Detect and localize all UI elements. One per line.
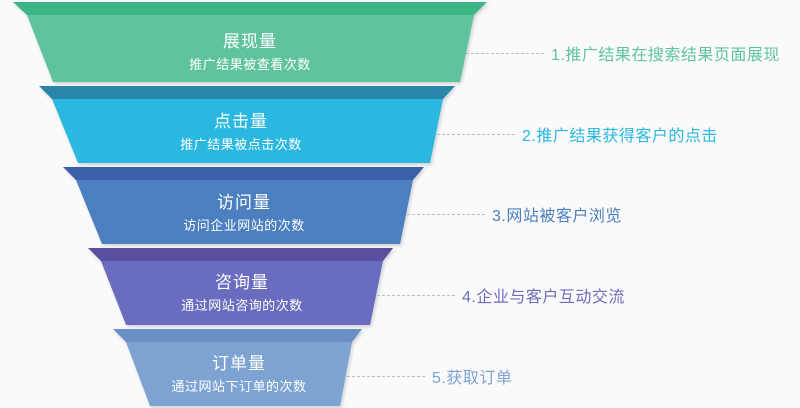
funnel-stage-1-top — [13, 2, 487, 15]
callout-connector-3-icon — [407, 214, 485, 215]
funnel-callout-3-label: 3.网站被客户浏览 — [492, 202, 622, 226]
funnel-callout-3[interactable]: 3.网站被客户浏览 — [407, 202, 622, 226]
callout-connector-5-icon — [347, 376, 425, 377]
funnel-stage-1-body — [27, 15, 474, 82]
funnel-stage-5-top — [113, 329, 362, 342]
funnel-stage-2-body — [52, 99, 443, 163]
funnel-stage-3-body — [76, 180, 413, 244]
callout-connector-2-icon — [437, 134, 515, 135]
funnel-callout-4[interactable]: 4.企业与客户互动交流 — [377, 283, 625, 307]
funnel-stage-5[interactable] — [113, 329, 362, 406]
funnel-stage-1[interactable] — [13, 2, 487, 82]
funnel-stage-5-body — [126, 342, 352, 406]
funnel-callout-5[interactable]: 5.获取订单 — [347, 364, 512, 388]
funnel-callout-2-label: 2.推广结果获得客户的点击 — [522, 122, 718, 146]
funnel-stage-4[interactable] — [88, 248, 393, 325]
funnel-callout-5-label: 5.获取订单 — [432, 364, 512, 388]
callout-connector-1-icon — [466, 53, 544, 54]
funnel-stage-2-top — [39, 86, 455, 99]
funnel-stage-4-top — [88, 248, 393, 261]
funnel-stage-3[interactable] — [63, 167, 424, 244]
funnel-callout-2[interactable]: 2.推广结果获得客户的点击 — [437, 122, 718, 146]
funnel-callout-1[interactable]: 1.推广结果在搜索结果页面展现 — [466, 41, 780, 65]
funnel-callout-1-label: 1.推广结果在搜索结果页面展现 — [551, 41, 780, 65]
funnel-diagram: 展现量 推广结果被查看次数 点击量 推广结果被点击次数 访问量 访问企业网站的次… — [0, 0, 800, 408]
funnel-stage-2[interactable] — [39, 86, 455, 163]
funnel-callout-4-label: 4.企业与客户互动交流 — [462, 283, 625, 307]
callout-connector-4-icon — [377, 295, 455, 296]
funnel-stage-3-top — [63, 167, 424, 180]
funnel-stage-4-body — [101, 261, 383, 325]
